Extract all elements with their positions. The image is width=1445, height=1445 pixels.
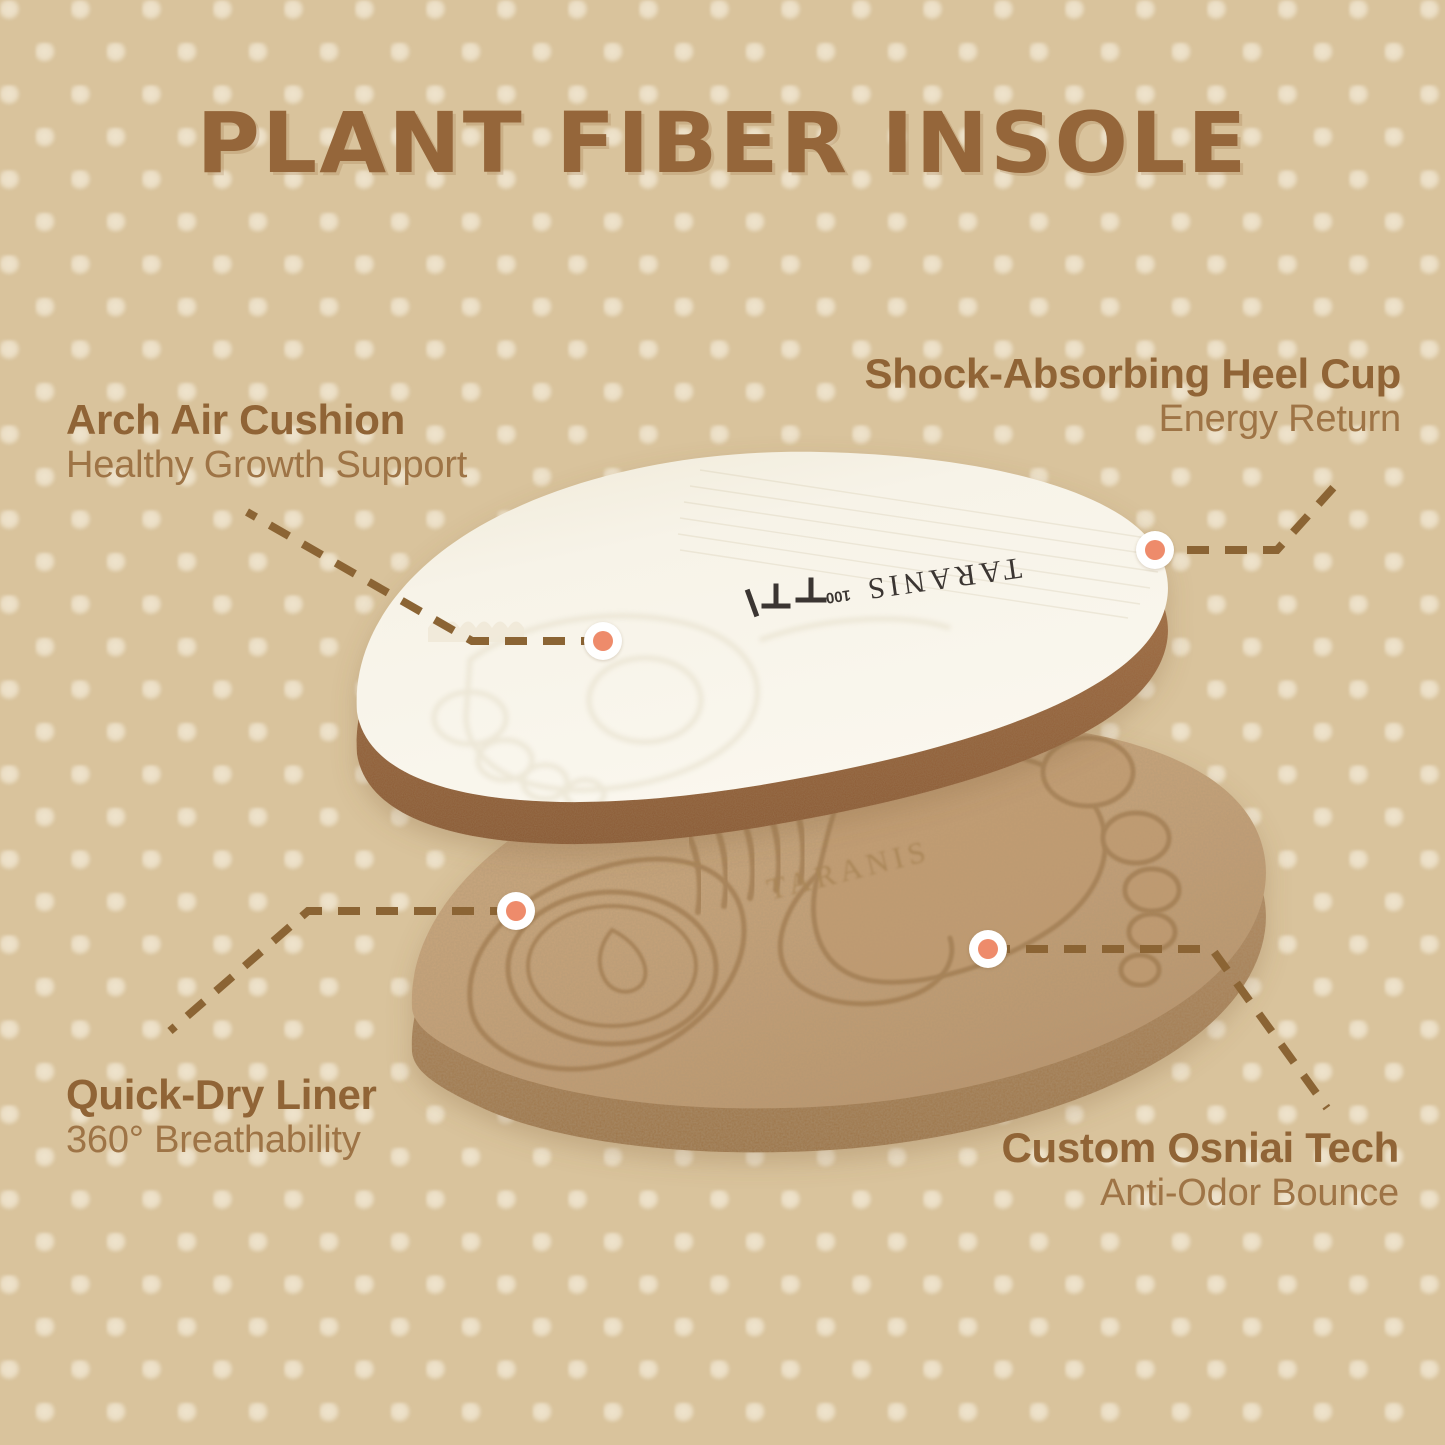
callout-heading: Quick-Dry Liner [66,1073,377,1117]
callout-quick-dry-liner: Quick-Dry Liner 360° Breathability [66,1073,377,1160]
dry-marker [497,892,535,930]
callout-heading: Shock-Absorbing Heel Cup [864,352,1401,396]
arch-marker [584,622,622,660]
callout-subheading: Healthy Growth Support [66,446,467,486]
callout-subheading: Energy Return [864,400,1401,440]
infographic-poster: TARANIS [0,0,1445,1445]
callout-arch-air-cushion: Arch Air Cushion Healthy Growth Support [66,398,467,485]
svg-text:100: 100 [825,586,852,606]
callout-subheading: 360° Breathability [66,1121,377,1161]
heel-marker [1136,531,1174,569]
callout-shock-absorbing-heel-cup: Shock-Absorbing Heel Cup Energy Return [864,352,1401,439]
callout-subheading: Anti-Odor Bounce [1001,1174,1399,1214]
callout-heading: Arch Air Cushion [66,398,467,442]
callout-custom-osniai-tech: Custom Osniai Tech Anti-Odor Bounce [1001,1126,1399,1213]
page-title: PLANT FIBER INSOLE [0,101,1445,185]
product-illustration: TARANIS [0,0,1445,1445]
callout-heading: Custom Osniai Tech [1001,1126,1399,1170]
odor-marker [969,930,1007,968]
